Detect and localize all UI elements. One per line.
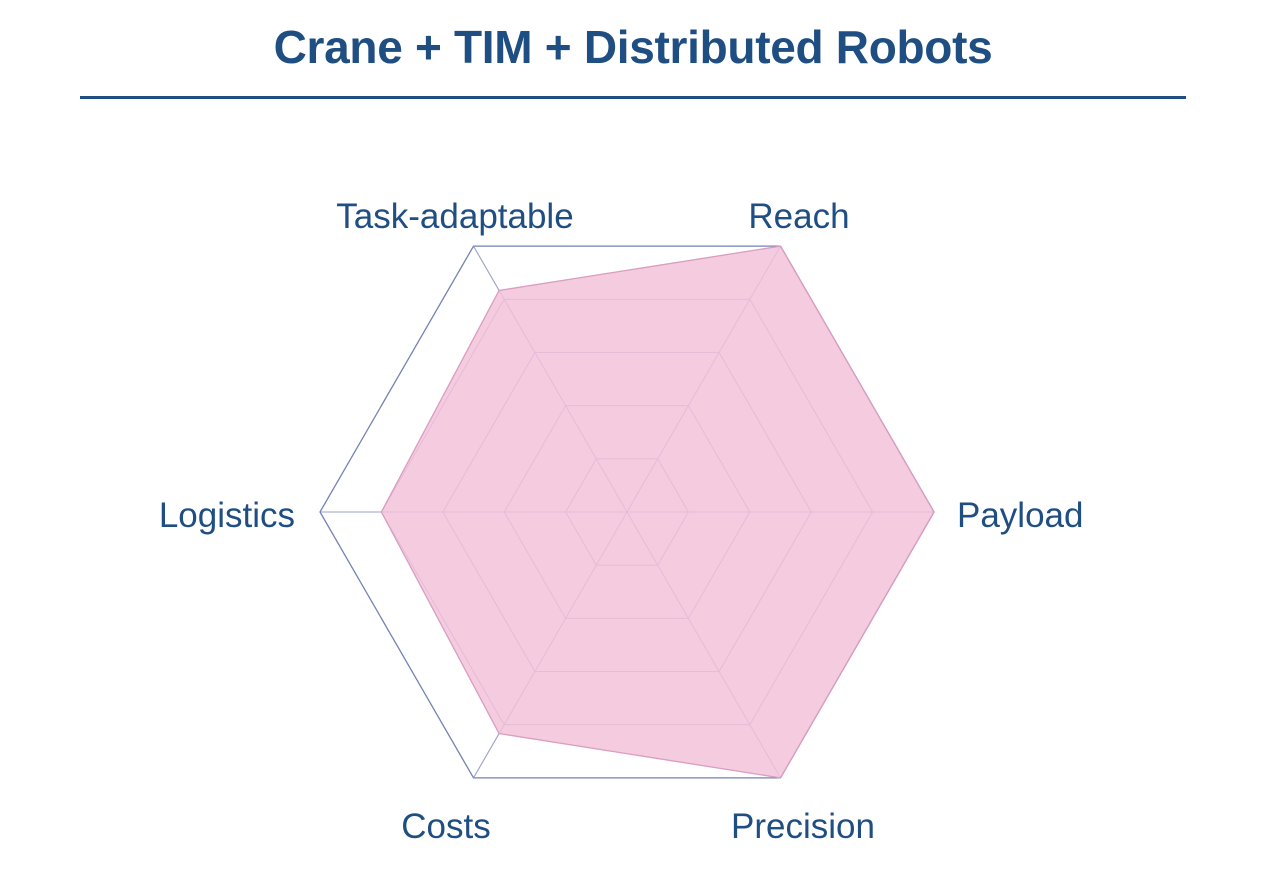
- axis-label-logistics: Logistics: [159, 496, 295, 535]
- slide-root: Crane + TIM + Distributed Robots Task-ad…: [0, 0, 1266, 890]
- radar-chart-svg: Task-adaptable Reach Payload Precision C…: [0, 0, 1266, 890]
- radar-series-polygon: [381, 246, 934, 778]
- axis-label-payload: Payload: [957, 496, 1083, 535]
- radar-series-group: [381, 246, 934, 778]
- axis-label-costs: Costs: [401, 807, 490, 846]
- axis-label-precision: Precision: [731, 807, 875, 846]
- radar-chart-area: Task-adaptable Reach Payload Precision C…: [0, 0, 1266, 890]
- axis-label-task-adaptable: Task-adaptable: [336, 197, 573, 236]
- axis-label-reach: Reach: [748, 197, 849, 236]
